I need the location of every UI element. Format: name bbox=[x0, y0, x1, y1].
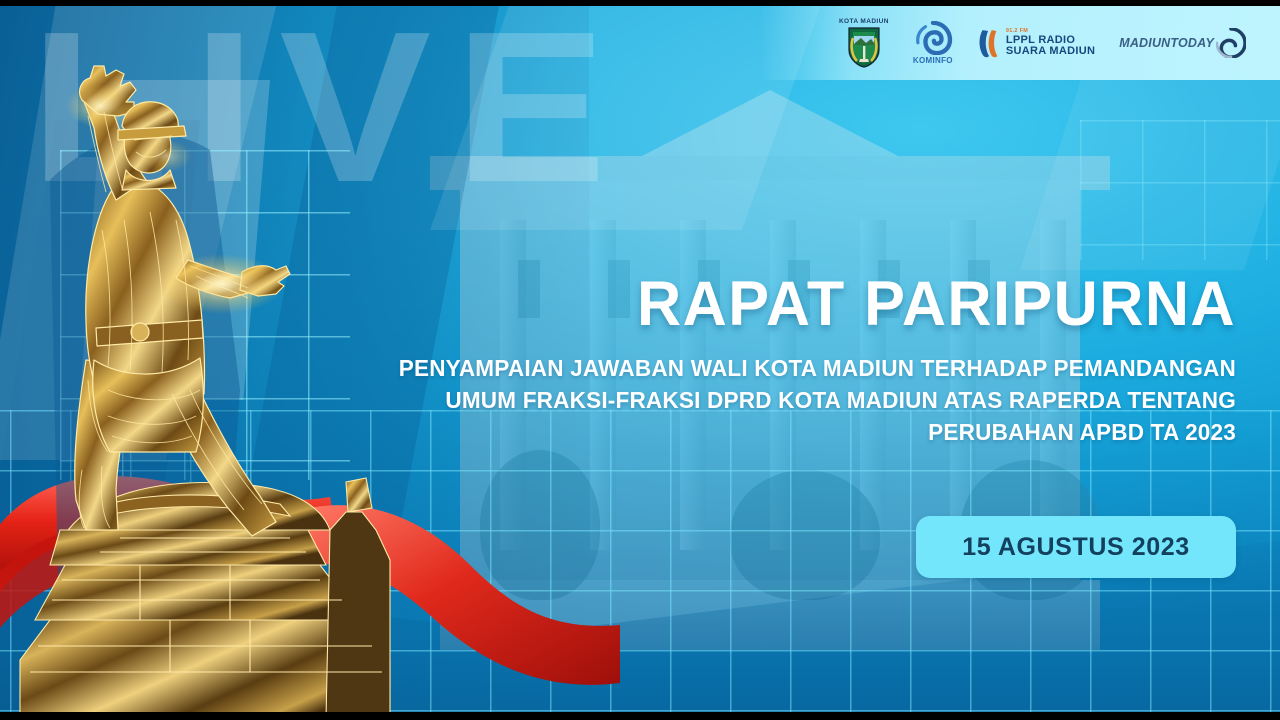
lppl-mark-icon bbox=[977, 27, 1001, 59]
kominfo-label: KOMINFO bbox=[913, 56, 953, 65]
event-date-text: 15 AGUSTUS 2023 bbox=[962, 533, 1190, 562]
logo-madiuntoday: MADIUNTODAY bbox=[1119, 28, 1246, 58]
logo-kominfo: KOMINFO bbox=[913, 21, 953, 65]
subtitle-line-1: PENYAMPAIAN JAWABAN WALI KOTA MADIUN TER… bbox=[325, 353, 1236, 385]
logo-lppl-radio: 91.2 FM LPPL RADIO SUARA MADIUN bbox=[977, 27, 1095, 59]
kota-madiun-shield-icon bbox=[847, 26, 881, 68]
madiuntoday-swirl-icon bbox=[1216, 28, 1246, 58]
subtitle-line-3: PERUBAHAN APBD TA 2023 bbox=[325, 417, 1236, 449]
subtitle-line-2: UMUM FRAKSI-FRAKSI DPRD KOTA MADIUN ATAS… bbox=[325, 385, 1236, 417]
kominfo-wave-icon bbox=[913, 21, 953, 55]
page-title: RAPAT PARIPURNA bbox=[334, 272, 1236, 336]
grid-overlay-upper-right bbox=[1080, 120, 1280, 260]
title-block: RAPAT PARIPURNA PENYAMPAIAN JAWABAN WALI… bbox=[306, 272, 1236, 448]
event-date-badge: 15 AGUSTUS 2023 bbox=[916, 516, 1236, 578]
letterbox-top bbox=[0, 0, 1280, 6]
letterbox-bottom bbox=[0, 712, 1280, 720]
madiuntoday-wordmark: MADIUNTODAY bbox=[1119, 36, 1214, 50]
broadcast-banner: LIVE bbox=[0, 0, 1280, 720]
lppl-line-2: SUARA MADIUN bbox=[1006, 46, 1095, 57]
partner-logo-bar: KOTA MADIUN KOMINFO bbox=[760, 6, 1280, 80]
kota-madiun-caption: KOTA MADIUN bbox=[839, 18, 889, 25]
logo-kota-madiun: KOTA MADIUN bbox=[839, 18, 889, 68]
